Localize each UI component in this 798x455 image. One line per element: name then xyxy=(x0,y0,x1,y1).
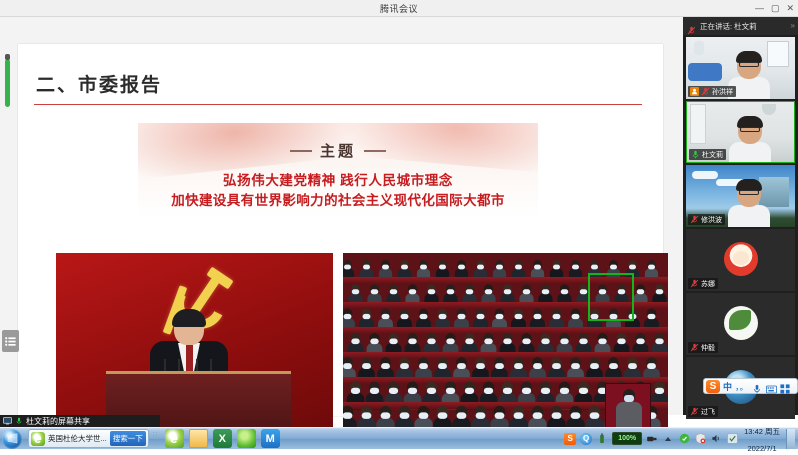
quick-launch-bar: X M xyxy=(165,429,280,448)
participant-name: 孙洪祥 xyxy=(712,87,733,97)
internet-explorer-icon[interactable] xyxy=(165,429,184,448)
annotation-box xyxy=(588,273,634,321)
toolbox-icon[interactable] xyxy=(780,381,791,392)
usb-icon[interactable] xyxy=(596,433,608,445)
keyboard-icon[interactable] xyxy=(766,381,777,392)
participant-name: 仲毅 xyxy=(701,343,715,353)
taskbar-clock[interactable]: 13:42 周五 2022/7/1 xyxy=(742,422,782,455)
dash-left-icon xyxy=(290,150,312,152)
sogou-tray-icon[interactable]: S xyxy=(564,433,576,445)
active-speaker-label: 正在讲话: 杜文莉 xyxy=(700,21,757,32)
file-explorer-icon[interactable] xyxy=(189,429,208,448)
participant-tile[interactable]: 苏娜 xyxy=(686,229,795,291)
excel-icon[interactable]: X xyxy=(213,429,232,448)
window-title: 腾讯会议 xyxy=(380,2,418,15)
app-window: 腾讯会议 — ▢ ✕ 二、市委报告 主题 弘扬伟大建党精神 践行人民城市理念 加… xyxy=(0,0,798,449)
windows-taskbar: 英国杜伦大学世... 搜索一下 X M S Q 100% xyxy=(0,427,798,449)
search-button[interactable]: 搜索一下 xyxy=(110,431,146,446)
host-badge-icon xyxy=(690,87,699,96)
presentation-slide: 二、市委报告 主题 弘扬伟大建党精神 践行人民城市理念 加快建设具有世界影响力的… xyxy=(18,44,663,416)
window-title-bar: 腾讯会议 — ▢ ✕ xyxy=(0,0,798,17)
green-scroll-handle[interactable] xyxy=(5,59,10,107)
participant-tile[interactable]: 仲毅 xyxy=(686,293,795,355)
title-divider xyxy=(34,104,642,105)
show-hidden-icons-icon[interactable] xyxy=(662,433,674,445)
participant-name: 苏娜 xyxy=(701,279,715,289)
microphone-muted-icon xyxy=(690,215,699,224)
chevron-right-icon[interactable]: » xyxy=(791,21,795,30)
qq-tray-icon[interactable]: Q xyxy=(580,433,592,445)
start-button[interactable] xyxy=(2,429,22,449)
taskbar-item-title: 英国杜伦大学世... xyxy=(48,433,107,444)
slide-photo-right xyxy=(343,253,668,433)
participant-name-bar: 苏娜 xyxy=(688,278,718,289)
share-owner-label: 杜文莉的屏幕共享 xyxy=(26,416,90,427)
microphone-icon[interactable] xyxy=(752,381,763,392)
participant-tile[interactable]: 孙洪祥 xyxy=(686,37,795,99)
slide-photo-left xyxy=(56,253,333,433)
list-view-button[interactable] xyxy=(2,330,19,352)
participant-tiles: 孙洪祥杜文莉修洪波苏娜仲毅过飞 xyxy=(683,37,798,419)
show-desktop-button[interactable] xyxy=(786,429,795,449)
microphone-muted-icon xyxy=(701,87,710,96)
participant-name: 过飞 xyxy=(701,407,715,417)
dash-right-icon xyxy=(364,150,386,152)
seat-row xyxy=(343,352,668,359)
ime-punctuation-toggle[interactable]: ，。 xyxy=(735,380,749,393)
microphone-icon xyxy=(691,150,700,159)
active-speaker-banner: 正在讲话: 杜文莉 » xyxy=(683,17,798,35)
participant-tile[interactable]: 修洪波 xyxy=(686,165,795,227)
participant-name: 杜文莉 xyxy=(702,150,723,160)
taskbar-grip[interactable] xyxy=(152,431,157,447)
participant-rail: 正在讲话: 杜文莉 » 孙洪祥杜文莉修洪波苏娜仲毅过飞 xyxy=(683,17,798,415)
microphone-muted-icon xyxy=(690,279,699,288)
avatar xyxy=(724,242,758,276)
theme-label-row: 主题 xyxy=(138,140,538,161)
ime-mode-toggle[interactable]: 中 xyxy=(723,380,732,393)
close-icon[interactable]: ✕ xyxy=(786,4,794,13)
wechat-icon[interactable] xyxy=(237,429,256,448)
sogou-ime-toolbar[interactable]: S 中 ，。 xyxy=(703,378,798,394)
maximize-icon[interactable]: ▢ xyxy=(771,4,780,13)
avatar xyxy=(724,306,758,340)
screen-share-banner: 杜文莉的屏幕共享 xyxy=(0,415,160,427)
participant-tile[interactable]: 杜文莉 xyxy=(686,101,795,163)
battery-percent: 100% xyxy=(618,435,636,442)
sogou-logo-icon[interactable]: S xyxy=(706,380,720,393)
minimize-icon[interactable]: — xyxy=(755,4,764,13)
participant-name-bar: 修洪波 xyxy=(688,214,725,225)
theme-label: 主题 xyxy=(320,140,356,161)
participant-name-bar: 过飞 xyxy=(688,406,718,417)
theme-line-2: 加快建设具有世界影响力的社会主义现代化国际大都市 xyxy=(138,189,538,209)
power-plug-icon[interactable] xyxy=(646,433,658,445)
meituan-icon[interactable]: M xyxy=(261,429,280,448)
internet-explorer-icon xyxy=(31,432,45,446)
microphone-muted-icon xyxy=(687,22,696,31)
clock-time: 13:42 周五 xyxy=(744,427,780,436)
microphone-muted-icon xyxy=(690,343,699,352)
participant-name-bar: 孙洪祥 xyxy=(688,86,736,97)
microphone-muted-icon xyxy=(690,407,699,416)
battery-indicator[interactable]: 100% xyxy=(612,432,642,445)
clock-date: 2022/7/1 xyxy=(747,444,776,453)
participant-name-bar: 杜文莉 xyxy=(689,149,726,160)
page-title: 二、市委报告 xyxy=(36,70,162,97)
shield-icon[interactable] xyxy=(694,433,706,445)
theme-card: 主题 弘扬伟大建党精神 践行人民城市理念 加快建设具有世界影响力的社会主义现代化… xyxy=(138,123,538,218)
volume-icon[interactable] xyxy=(710,433,722,445)
window-controls: — ▢ ✕ xyxy=(755,0,794,17)
network-icon[interactable] xyxy=(678,433,690,445)
system-tray: S Q 100% xyxy=(564,422,798,455)
shared-screen-stage: 二、市委报告 主题 弘扬伟大建党精神 践行人民城市理念 加快建设具有世界影响力的… xyxy=(0,17,683,415)
taskbar-item-internet-explorer[interactable]: 英国杜伦大学世... 搜索一下 xyxy=(28,429,149,448)
theme-line-1: 弘扬伟大建党精神 践行人民城市理念 xyxy=(138,169,538,189)
participant-name: 修洪波 xyxy=(701,215,722,225)
action-center-icon[interactable] xyxy=(726,433,738,445)
participant-name-bar: 仲毅 xyxy=(688,342,718,353)
